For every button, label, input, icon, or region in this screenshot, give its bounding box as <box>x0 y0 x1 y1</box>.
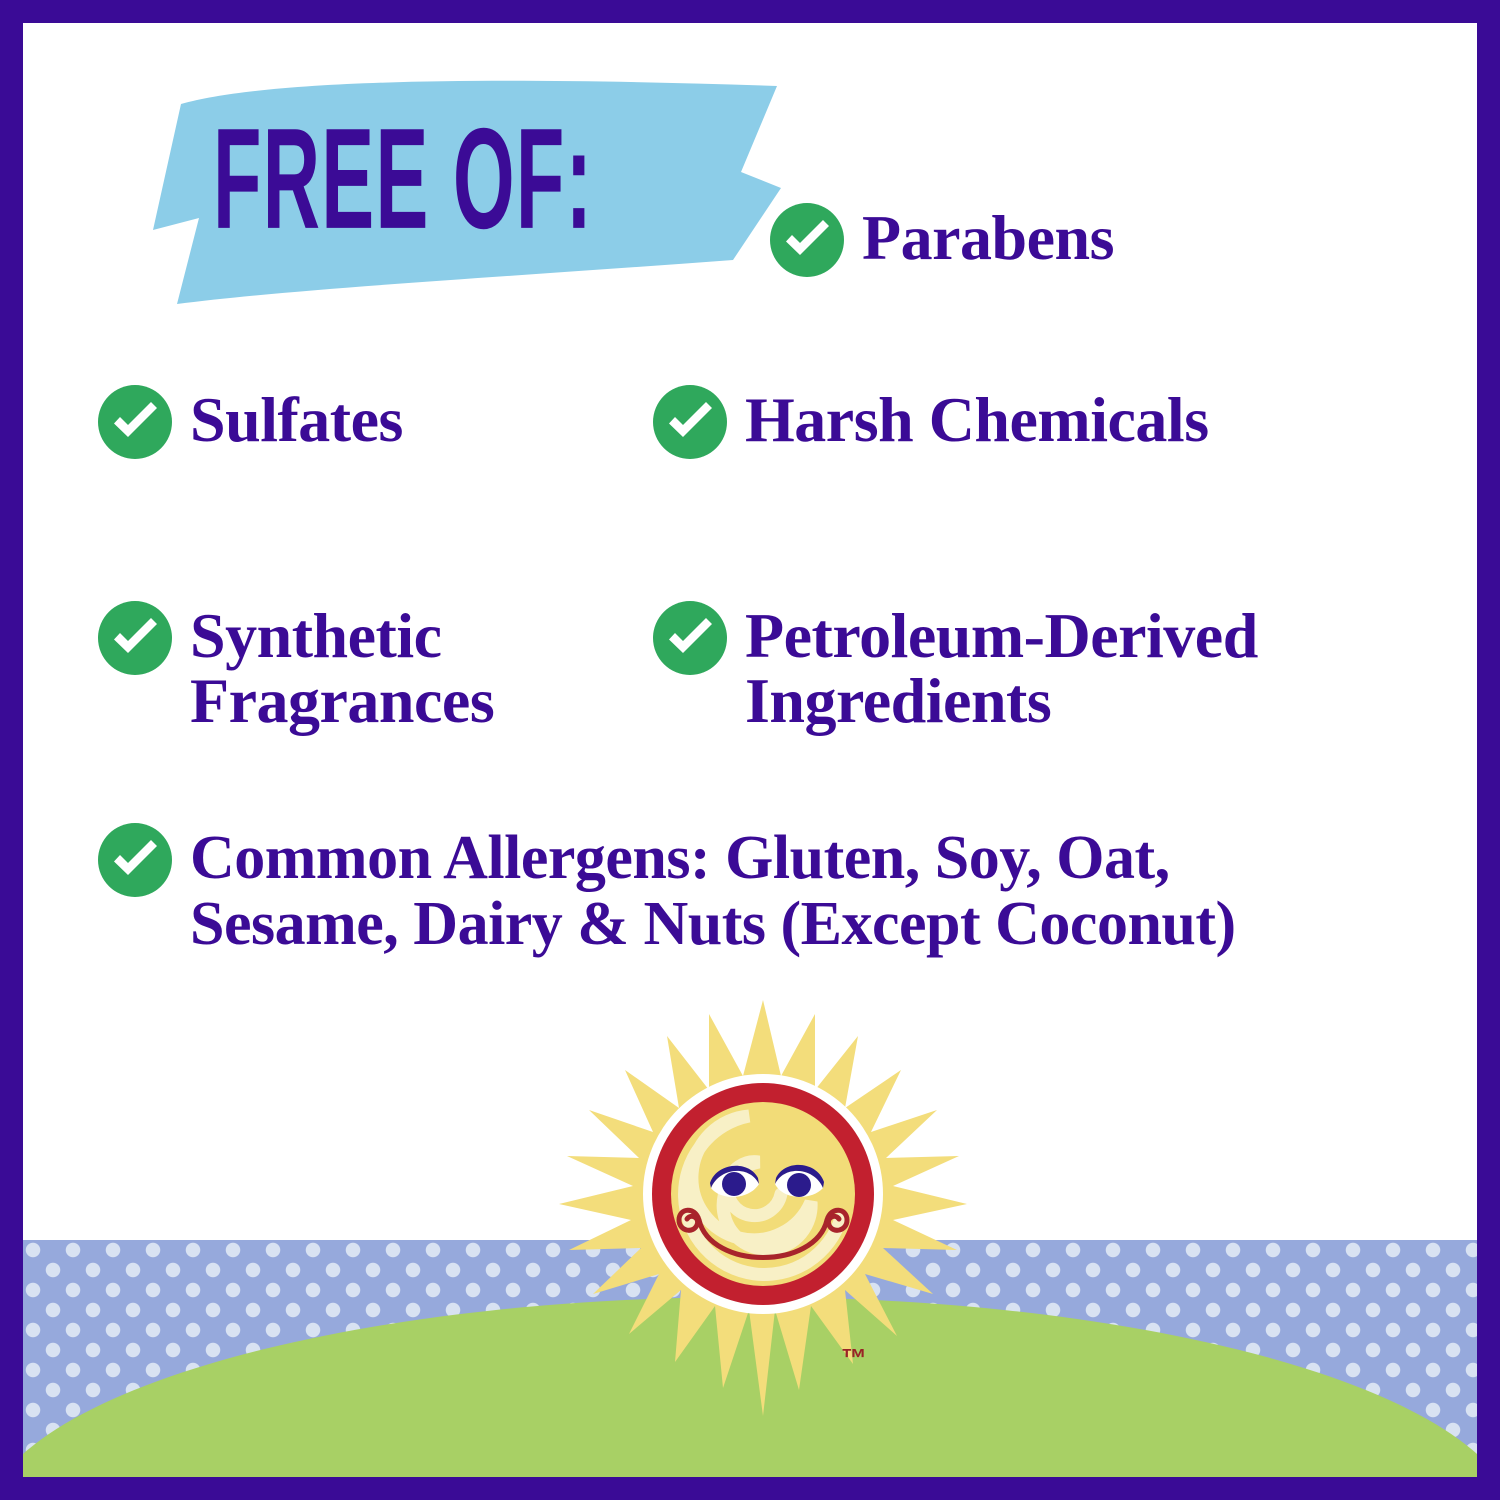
list-item-label: Parabens <box>862 205 1114 270</box>
check-circle-icon <box>653 601 727 675</box>
list-item-label: Petroleum-Derived Ingredients <box>745 603 1258 734</box>
free-of-banner: FREE OF: <box>141 80 781 310</box>
check-circle-icon <box>770 203 844 277</box>
list-item-label: Harsh Chemicals <box>745 387 1209 452</box>
product-info-card: FREE OF: Parabens Sulfates <box>0 0 1500 1500</box>
check-circle-icon <box>98 823 172 897</box>
trademark-symbol: ™ <box>841 1343 868 1374</box>
list-item-label: Common Allergens: Gluten, Soy, Oat, Sesa… <box>190 825 1236 958</box>
list-item-petroleum-derived-ingredients: Petroleum-Derived Ingredients <box>653 601 1258 734</box>
list-item-parabens: Parabens <box>770 203 1114 277</box>
list-item-sulfates: Sulfates <box>98 385 403 459</box>
check-circle-icon <box>98 385 172 459</box>
list-item-label: Sulfates <box>190 387 403 452</box>
check-circle-icon <box>653 385 727 459</box>
check-circle-icon <box>98 601 172 675</box>
list-item-synthetic-fragrances: Synthetic Fragrances <box>98 601 494 734</box>
sun-logo <box>553 998 973 1418</box>
list-item-label: Synthetic Fragrances <box>190 603 494 734</box>
card-inner: FREE OF: Parabens Sulfates <box>23 23 1477 1477</box>
list-item-harsh-chemicals: Harsh Chemicals <box>653 385 1209 459</box>
list-item-common-allergens: Common Allergens: Gluten, Soy, Oat, Sesa… <box>98 823 1236 958</box>
banner-title: FREE OF: <box>213 108 593 251</box>
